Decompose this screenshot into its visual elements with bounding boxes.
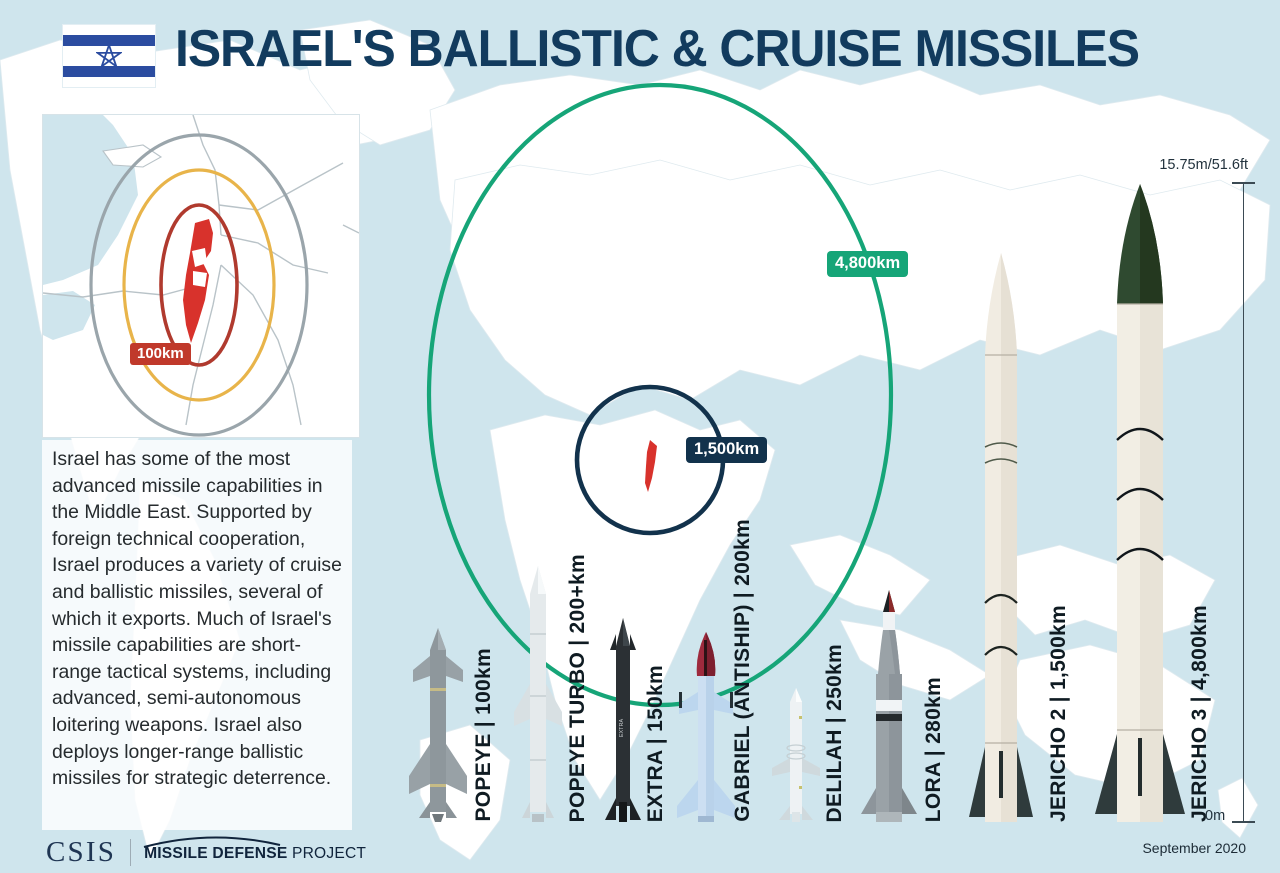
missile-popeye-turbo <box>512 564 564 822</box>
svg-text:EXTRA: EXTRA <box>619 719 625 738</box>
scale-tick-bottom <box>1232 821 1255 823</box>
missile-lora <box>858 588 920 822</box>
missile-label-delilah: DELILAH | 250km <box>823 644 847 822</box>
scale-axis-line <box>1243 182 1244 822</box>
missile-label-jericho-2: JERICHO 2 | 1,500km <box>1047 605 1071 822</box>
missile-label-jericho-3: JERICHO 3 | 4,800km <box>1188 605 1212 822</box>
missile-label-lora: LORA | 280km <box>922 677 946 822</box>
missile-jericho-2 <box>963 251 1039 822</box>
infographic-root: ISRAEL'S BALLISTIC & CRUISE MISSILES <box>0 0 1280 873</box>
missile-popeye <box>405 626 471 822</box>
missile-label-gabriel: GABRIEL (ANTISHIP) | 200km <box>731 519 755 822</box>
missile-delilah <box>770 686 822 822</box>
missile-lineup: POPEYE | 100km POPEYE TURBO | 200+km <box>0 0 1280 873</box>
missile-label-popeye-turbo: POPEYE TURBO | 200+km <box>566 554 590 822</box>
scale-max-label: 15.75m/51.6ft <box>1159 157 1248 173</box>
missile-jericho-3 <box>1093 182 1187 822</box>
missile-gabriel <box>673 630 739 822</box>
missile-label-popeye: POPEYE | 100km <box>472 648 496 822</box>
missile-extra: EXTRA <box>603 616 643 822</box>
missile-label-extra: EXTRA | 150km <box>644 665 668 822</box>
scale-tick-top <box>1232 182 1255 184</box>
scale-min-label: 0m <box>1205 808 1225 824</box>
